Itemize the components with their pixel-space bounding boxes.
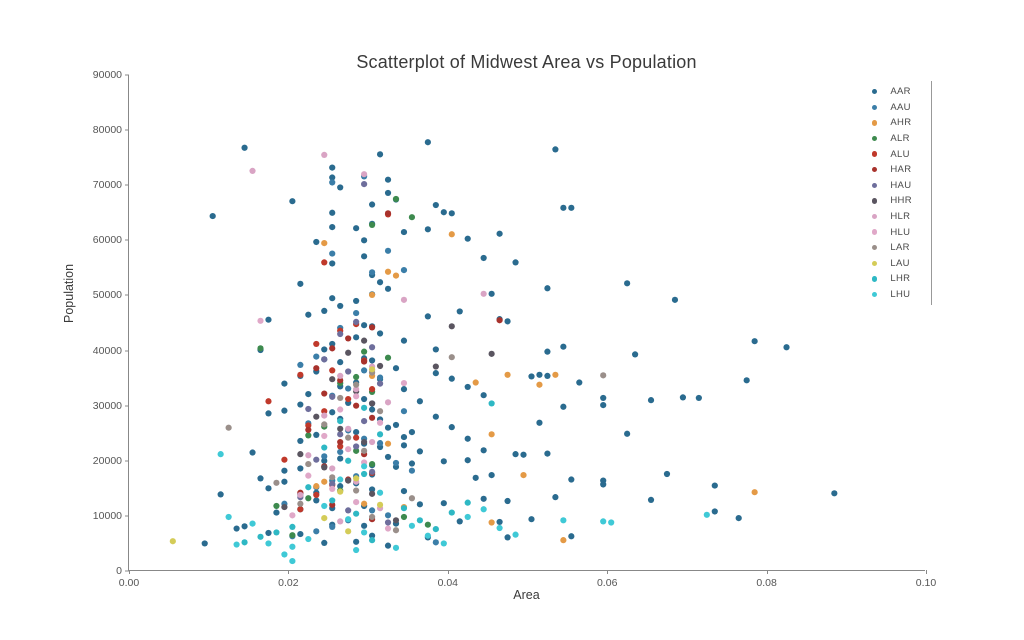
scatter-point bbox=[536, 372, 542, 378]
scatter-point bbox=[297, 451, 303, 457]
scatter-point bbox=[377, 440, 383, 446]
scatter-point bbox=[704, 512, 710, 518]
scatter-point bbox=[218, 491, 224, 497]
scatter-point bbox=[313, 497, 319, 503]
scatter-point bbox=[393, 365, 399, 371]
scatter-point bbox=[504, 534, 510, 540]
scatter-point bbox=[576, 379, 582, 385]
scatter-point bbox=[393, 545, 399, 551]
scatter-point bbox=[305, 473, 311, 479]
scatter-point bbox=[353, 393, 359, 399]
scatter-point bbox=[696, 395, 702, 401]
scatter-point bbox=[345, 426, 351, 432]
scatter-point bbox=[449, 509, 455, 515]
scatter-point bbox=[305, 427, 311, 433]
legend-item[interactable]: ALU bbox=[866, 146, 931, 162]
scatter-point bbox=[401, 408, 407, 414]
x-tick-label: 0.02 bbox=[278, 577, 298, 589]
x-tick-label: 0.04 bbox=[438, 577, 458, 589]
scatter-point bbox=[369, 357, 375, 363]
scatter-point bbox=[465, 384, 471, 390]
scatter-point bbox=[465, 236, 471, 242]
x-tick-label: 0.08 bbox=[756, 577, 776, 589]
scatter-point bbox=[377, 502, 383, 508]
scatter-point bbox=[337, 449, 343, 455]
scatter-point bbox=[361, 237, 367, 243]
scatter-point bbox=[489, 519, 495, 525]
scatter-point bbox=[369, 537, 375, 543]
scatter-point bbox=[409, 495, 415, 501]
scatter-point bbox=[297, 492, 303, 498]
scatter-point bbox=[305, 312, 311, 318]
figure-canvas: Scatterplot of Midwest Area vs Populatio… bbox=[0, 0, 1024, 640]
scatter-point bbox=[313, 483, 319, 489]
scatter-point bbox=[752, 338, 758, 344]
scatter-point bbox=[361, 471, 367, 477]
scatter-point bbox=[361, 396, 367, 402]
legend: AARAAUAHRALRALUHARHAUHHRHLRHLULARLAULHRL… bbox=[866, 81, 932, 305]
scatter-point bbox=[249, 168, 255, 174]
scatter-point bbox=[369, 439, 375, 445]
scatter-point bbox=[345, 435, 351, 441]
legend-marker-icon bbox=[872, 105, 877, 110]
scatter-point bbox=[465, 457, 471, 463]
scatter-point bbox=[305, 406, 311, 412]
legend-marker-icon bbox=[872, 292, 877, 297]
scatter-point bbox=[385, 190, 391, 196]
scatter-point bbox=[648, 497, 654, 503]
scatter-series bbox=[281, 173, 439, 545]
scatter-point bbox=[568, 205, 574, 211]
scatter-point bbox=[321, 515, 327, 521]
scatter-point bbox=[385, 543, 391, 549]
scatter-point bbox=[369, 469, 375, 475]
scatter-point bbox=[369, 344, 375, 350]
legend-item[interactable]: HLU bbox=[866, 224, 931, 240]
scatter-point bbox=[345, 335, 351, 341]
scatter-point bbox=[353, 487, 359, 493]
x-tick-label: 0.10 bbox=[916, 577, 936, 589]
scatter-point bbox=[457, 518, 463, 524]
scatter-point bbox=[481, 447, 487, 453]
scatter-point bbox=[401, 434, 407, 440]
legend-marker-icon bbox=[872, 229, 877, 234]
scatter-point bbox=[297, 281, 303, 287]
scatter-point bbox=[377, 420, 383, 426]
legend-item-label: LAU bbox=[890, 258, 909, 269]
scatter-point bbox=[305, 452, 311, 458]
scatter-point bbox=[552, 372, 558, 378]
scatter-point bbox=[409, 214, 415, 220]
scatter-point bbox=[289, 544, 295, 550]
scatter-point bbox=[353, 298, 359, 304]
scatter-point bbox=[520, 452, 526, 458]
legend-item-label: HAU bbox=[890, 180, 911, 191]
scatter-point bbox=[377, 490, 383, 496]
scatter-point bbox=[672, 297, 678, 303]
scatter-point bbox=[361, 338, 367, 344]
scatter-point bbox=[361, 439, 367, 445]
legend-item-label: LHU bbox=[890, 289, 910, 300]
legend-item-label: LHR bbox=[890, 273, 910, 284]
scatter-point bbox=[329, 367, 335, 373]
scatter-point bbox=[265, 540, 271, 546]
scatter-point bbox=[433, 414, 439, 420]
scatter-point bbox=[345, 385, 351, 391]
legend-marker-icon bbox=[872, 245, 877, 250]
legend-item[interactable]: LHU bbox=[866, 287, 931, 303]
scatter-point bbox=[401, 442, 407, 448]
scatter-point bbox=[441, 500, 447, 506]
legend-item-label: AHR bbox=[890, 117, 911, 128]
scatter-point bbox=[369, 406, 375, 412]
legend-item-label: AAR bbox=[890, 86, 910, 97]
y-tick-label: 90000 bbox=[93, 69, 129, 81]
scatter-point bbox=[401, 505, 407, 511]
scatter-point bbox=[481, 392, 487, 398]
scatter-point bbox=[353, 382, 359, 388]
scatter-point bbox=[544, 285, 550, 291]
scatter-point bbox=[313, 414, 319, 420]
scatter-point bbox=[226, 425, 232, 431]
scatter-point bbox=[226, 514, 232, 520]
scatter-point bbox=[321, 259, 327, 265]
scatter-point bbox=[369, 386, 375, 392]
legend-item[interactable]: HAR bbox=[866, 162, 931, 178]
scatter-point bbox=[281, 479, 287, 485]
scatter-point bbox=[449, 354, 455, 360]
scatter-point bbox=[449, 323, 455, 329]
scatter-point bbox=[712, 482, 718, 488]
scatter-point bbox=[297, 372, 303, 378]
scatter-point bbox=[377, 151, 383, 157]
legend-item[interactable]: LAU bbox=[866, 256, 931, 272]
scatter-point bbox=[600, 402, 606, 408]
scatter-point bbox=[329, 465, 335, 471]
scatter-point bbox=[401, 488, 407, 494]
scatter-point bbox=[393, 273, 399, 279]
scatter-point bbox=[321, 412, 327, 418]
scatter-point bbox=[297, 465, 303, 471]
scatter-point bbox=[385, 269, 391, 275]
scatter-point bbox=[401, 267, 407, 273]
scatter-point bbox=[489, 431, 495, 437]
scatter-point bbox=[345, 368, 351, 374]
scatter-point bbox=[265, 485, 271, 491]
y-tick-label: 70000 bbox=[93, 179, 129, 191]
scatter-point bbox=[369, 201, 375, 207]
legend-item-label: ALR bbox=[890, 133, 909, 144]
legend-marker-icon bbox=[872, 120, 877, 125]
scatter-point bbox=[353, 475, 359, 481]
scatter-point bbox=[385, 519, 391, 525]
y-tick-mark bbox=[125, 295, 129, 296]
scatter-point bbox=[353, 539, 359, 545]
scatter-point bbox=[481, 506, 487, 512]
scatter-point bbox=[321, 390, 327, 396]
scatter-point bbox=[433, 539, 439, 545]
legend-item[interactable]: LAR bbox=[866, 240, 931, 256]
scatter-point bbox=[329, 486, 335, 492]
scatter-point bbox=[624, 280, 630, 286]
scatter-point bbox=[345, 478, 351, 484]
scatter-point bbox=[600, 372, 606, 378]
scatter-series bbox=[297, 210, 502, 522]
scatter-point bbox=[536, 382, 542, 388]
scatter-point bbox=[433, 346, 439, 352]
scatter-point bbox=[361, 529, 367, 535]
scatter-point bbox=[377, 374, 383, 380]
scatter-point bbox=[265, 530, 271, 536]
scatter-point bbox=[409, 523, 415, 529]
scatter-point bbox=[345, 458, 351, 464]
scatter-point bbox=[321, 421, 327, 427]
scatter-point bbox=[353, 319, 359, 325]
x-tick-mark bbox=[129, 570, 130, 574]
scatter-point bbox=[393, 517, 399, 523]
scatter-point bbox=[313, 492, 319, 498]
scatter-point bbox=[337, 418, 343, 424]
scatter-point bbox=[337, 476, 343, 482]
scatter-point bbox=[297, 401, 303, 407]
scatter-point bbox=[353, 443, 359, 449]
scatter-point bbox=[409, 460, 415, 466]
scatter-point bbox=[441, 458, 447, 464]
scatter-point bbox=[497, 519, 503, 525]
y-tick-label: 40000 bbox=[93, 345, 129, 357]
scatter-point bbox=[520, 472, 526, 478]
scatter-point bbox=[449, 424, 455, 430]
scatter-point bbox=[257, 345, 263, 351]
scatter-point bbox=[321, 444, 327, 450]
scatter-point bbox=[385, 210, 391, 216]
scatter-point bbox=[536, 420, 542, 426]
scatter-point bbox=[313, 528, 319, 534]
scatter-series bbox=[257, 196, 431, 538]
scatter-point bbox=[624, 431, 630, 437]
scatter-point bbox=[361, 418, 367, 424]
scatter-point bbox=[329, 345, 335, 351]
scatter-point bbox=[568, 533, 574, 539]
scatter-point bbox=[361, 322, 367, 328]
scatter-point bbox=[321, 479, 327, 485]
scatter-point bbox=[377, 279, 383, 285]
legend-marker-icon bbox=[872, 167, 877, 172]
legend-marker-icon bbox=[872, 183, 877, 188]
scatter-point bbox=[393, 527, 399, 533]
scatter-point bbox=[369, 415, 375, 421]
legend-item[interactable]: HAU bbox=[866, 178, 931, 194]
x-tick-label: 0.06 bbox=[597, 577, 617, 589]
scatter-point bbox=[353, 499, 359, 505]
scatter-point bbox=[353, 310, 359, 316]
scatter-point bbox=[313, 365, 319, 371]
scatter-point bbox=[297, 531, 303, 537]
scatter-point bbox=[289, 558, 295, 564]
legend-marker-icon bbox=[872, 276, 877, 281]
plot-area: 0100002000030000400005000060000700008000… bbox=[128, 75, 925, 571]
scatter-point bbox=[544, 451, 550, 457]
scatter-point bbox=[385, 248, 391, 254]
scatter-point bbox=[385, 454, 391, 460]
legend-item[interactable]: AAU bbox=[866, 100, 931, 116]
scatter-point bbox=[202, 540, 208, 546]
scatter-series bbox=[170, 366, 383, 544]
scatter-point bbox=[680, 394, 686, 400]
scatter-point bbox=[417, 501, 423, 507]
legend-marker-icon bbox=[872, 136, 877, 141]
scatter-point bbox=[512, 259, 518, 265]
scatter-point bbox=[831, 490, 837, 496]
scatter-point bbox=[273, 509, 279, 515]
scatter-point bbox=[345, 507, 351, 513]
scatter-series bbox=[241, 400, 494, 545]
scatter-point bbox=[297, 438, 303, 444]
scatter-point bbox=[329, 164, 335, 170]
y-tick-mark bbox=[125, 460, 129, 461]
scatter-point bbox=[337, 489, 343, 495]
scatter-point bbox=[329, 210, 335, 216]
legend-item[interactable]: ALR bbox=[866, 131, 931, 147]
scatter-point bbox=[600, 518, 606, 524]
scatter-point bbox=[321, 464, 327, 470]
scatter-point bbox=[265, 398, 271, 404]
legend-marker-icon bbox=[872, 261, 877, 266]
scatter-point bbox=[512, 532, 518, 538]
scatter-point bbox=[361, 501, 367, 507]
scatter-point bbox=[369, 292, 375, 298]
scatter-point bbox=[329, 179, 335, 185]
scatter-point bbox=[337, 406, 343, 412]
scatter-point bbox=[257, 475, 263, 481]
scatter-point bbox=[401, 297, 407, 303]
scatter-point bbox=[736, 515, 742, 521]
scatter-point bbox=[337, 331, 343, 337]
scatter-point bbox=[401, 229, 407, 235]
scatter-point bbox=[273, 503, 279, 509]
scatter-point bbox=[353, 403, 359, 409]
scatter-point bbox=[329, 409, 335, 415]
scatter-point bbox=[568, 476, 574, 482]
scatter-series bbox=[313, 231, 758, 543]
scatter-point bbox=[409, 468, 415, 474]
scatter-point bbox=[273, 480, 279, 486]
legend-item[interactable]: AHR bbox=[866, 115, 931, 131]
scatter-point bbox=[552, 494, 558, 500]
scatter-point bbox=[361, 448, 367, 454]
scatter-point bbox=[377, 381, 383, 387]
scatter-point bbox=[337, 439, 343, 445]
legend-item-label: HLR bbox=[890, 211, 910, 222]
scatter-point bbox=[433, 202, 439, 208]
scatter-point bbox=[329, 295, 335, 301]
legend-item[interactable]: HLR bbox=[866, 209, 931, 225]
scatter-point bbox=[321, 503, 327, 509]
y-tick-mark bbox=[125, 185, 129, 186]
scatter-point bbox=[353, 429, 359, 435]
scatter-series bbox=[218, 451, 710, 564]
scatter-point bbox=[441, 540, 447, 546]
scatter-point bbox=[560, 404, 566, 410]
scatter-point bbox=[321, 540, 327, 546]
scatter-point bbox=[265, 317, 271, 323]
scatter-point bbox=[281, 551, 287, 557]
scatter-point bbox=[361, 349, 367, 355]
scatter-point bbox=[321, 152, 327, 158]
scatter-point bbox=[473, 379, 479, 385]
scatter-point bbox=[321, 453, 327, 459]
scatter-point bbox=[305, 432, 311, 438]
scatter-point bbox=[425, 313, 431, 319]
scatter-point bbox=[353, 547, 359, 553]
scatter-point bbox=[544, 349, 550, 355]
scatter-point bbox=[385, 286, 391, 292]
x-tick-mark bbox=[448, 570, 449, 574]
scatter-point bbox=[504, 498, 510, 504]
scatter-point bbox=[241, 145, 247, 151]
x-tick-mark bbox=[288, 570, 289, 574]
legend-marker-icon bbox=[872, 151, 877, 156]
scatter-points-layer bbox=[129, 75, 926, 571]
scatter-point bbox=[544, 373, 550, 379]
scatter-point bbox=[218, 451, 224, 457]
legend-item[interactable]: HHR bbox=[866, 193, 931, 209]
y-axis-label: Population bbox=[62, 264, 76, 323]
scatter-point bbox=[281, 468, 287, 474]
legend-item[interactable]: LHR bbox=[866, 271, 931, 287]
scatter-point bbox=[337, 455, 343, 461]
scatter-point bbox=[504, 372, 510, 378]
y-tick-label: 20000 bbox=[93, 455, 129, 467]
scatter-point bbox=[481, 255, 487, 261]
x-tick-mark bbox=[926, 570, 927, 574]
scatter-point bbox=[369, 324, 375, 330]
legend-marker-icon bbox=[872, 198, 877, 203]
scatter-point bbox=[401, 514, 407, 520]
scatter-point bbox=[329, 497, 335, 503]
scatter-point bbox=[361, 523, 367, 529]
scatter-point bbox=[361, 367, 367, 373]
scatter-point bbox=[337, 359, 343, 365]
scatter-point bbox=[305, 461, 311, 467]
scatter-point bbox=[449, 210, 455, 216]
scatter-point bbox=[369, 514, 375, 520]
scatter-point bbox=[329, 260, 335, 266]
scatter-point bbox=[369, 507, 375, 513]
scatter-point bbox=[361, 171, 367, 177]
scatter-point bbox=[528, 516, 534, 522]
scatter-point bbox=[297, 506, 303, 512]
scatter-point bbox=[433, 370, 439, 376]
scatter-point bbox=[783, 344, 789, 350]
legend-item[interactable]: AAR bbox=[866, 84, 931, 100]
scatter-point bbox=[393, 196, 399, 202]
scatter-point bbox=[233, 541, 239, 547]
scatter-point bbox=[313, 457, 319, 463]
scatter-point bbox=[345, 516, 351, 522]
scatter-point bbox=[441, 209, 447, 215]
scatter-point bbox=[329, 250, 335, 256]
scatter-point bbox=[465, 500, 471, 506]
scatter-point bbox=[385, 399, 391, 405]
scatter-point bbox=[345, 528, 351, 534]
scatter-point bbox=[600, 481, 606, 487]
scatter-point bbox=[457, 308, 463, 314]
x-axis-label: Area bbox=[128, 588, 925, 602]
scatter-point bbox=[393, 422, 399, 428]
scatter-point bbox=[337, 373, 343, 379]
scatter-point bbox=[289, 198, 295, 204]
